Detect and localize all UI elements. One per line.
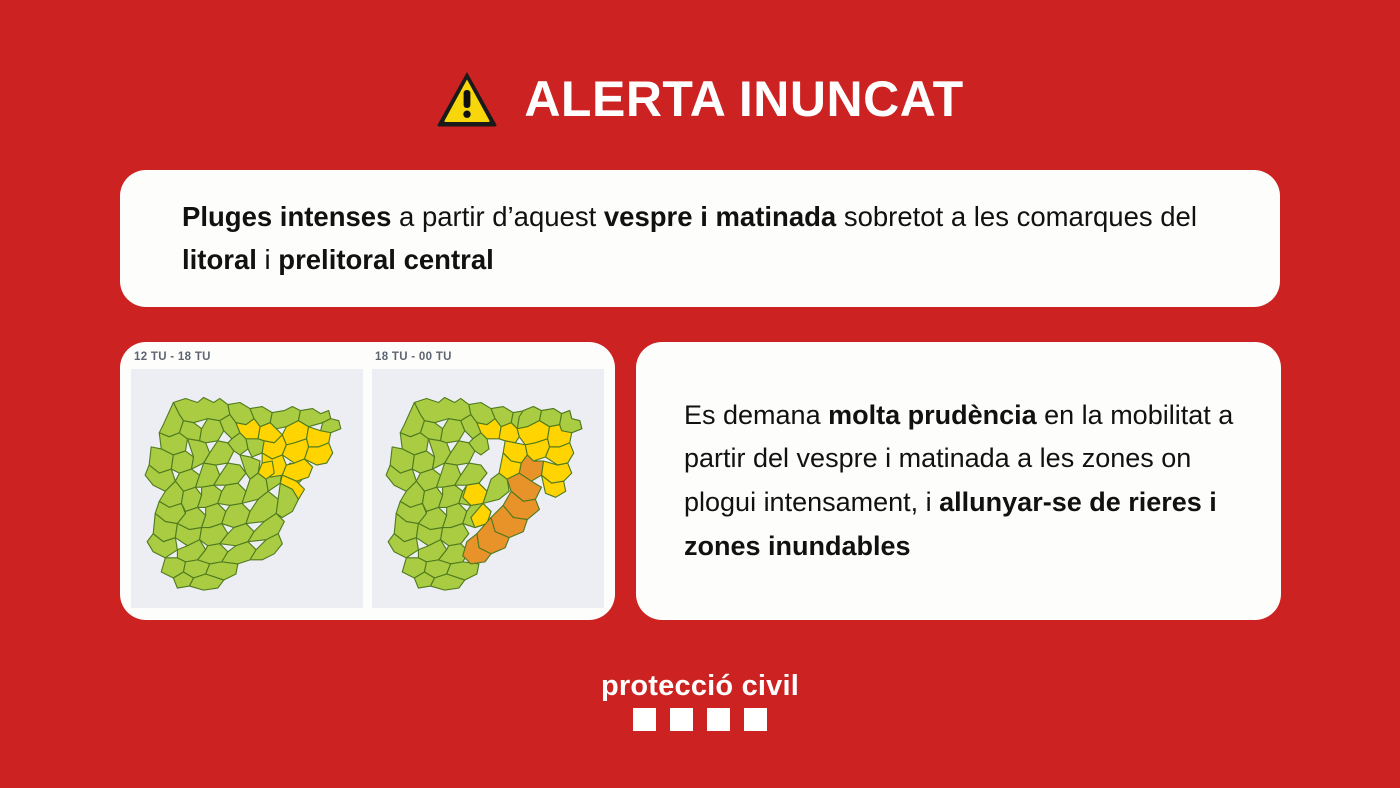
logo-squares — [633, 708, 767, 731]
header: ALERTA INUNCAT — [0, 60, 1400, 138]
message-bold-prelitoral: prelitoral central — [278, 244, 494, 275]
catalonia-map-18-00 — [372, 369, 604, 609]
message-plain-1: a partir d’aquest — [391, 201, 603, 232]
logo-text: protecció civil — [601, 672, 799, 701]
message-card: Pluges intenses a partir d’aquest vespre… — [120, 170, 1280, 307]
map-label-18-00: 18 TU - 00 TU — [372, 352, 604, 369]
logo-square — [670, 708, 693, 731]
logo-square — [707, 708, 730, 731]
map-row: 12 TU - 18 TU — [131, 352, 604, 608]
advice-card: Es demana molta prudència en la mobilita… — [636, 342, 1281, 620]
map-panel-18-00[interactable]: 18 TU - 00 TU — [372, 352, 604, 608]
catalonia-map-12-18 — [131, 369, 363, 609]
message-bold-litoral: litoral — [182, 244, 257, 275]
map-canvas-18-00[interactable] — [372, 369, 604, 609]
message-plain-4: i — [257, 244, 278, 275]
message-plain-3: comarques del — [1017, 201, 1197, 232]
advice-plain-1: Es demana — [684, 400, 828, 430]
message-text: Pluges intenses a partir d’aquest vespre… — [120, 196, 1280, 281]
logo-square — [633, 708, 656, 731]
message-bold-vespre: vespre i matinada — [604, 201, 836, 232]
map-canvas-12-18[interactable] — [131, 369, 363, 609]
maps-card: 12 TU - 18 TU — [120, 342, 615, 620]
map-label-12-18: 12 TU - 18 TU — [131, 352, 363, 369]
map-panel-12-18[interactable]: 12 TU - 18 TU — [131, 352, 363, 608]
message-bold-pluges: Pluges intenses — [182, 201, 391, 232]
warning-triangle-icon — [436, 70, 498, 128]
advice-text: Es demana molta prudència en la mobilita… — [636, 394, 1281, 569]
footer-logo: protecció civil — [0, 672, 1400, 731]
logo-square — [744, 708, 767, 731]
page-title: ALERTA INUNCAT — [524, 74, 963, 124]
infographic-root: ALERTA INUNCAT Pluges intenses a partir … — [0, 0, 1400, 788]
message-plain-2: sobretot a les — [836, 201, 1016, 232]
advice-bold-prudencia: molta prudència — [828, 400, 1037, 430]
